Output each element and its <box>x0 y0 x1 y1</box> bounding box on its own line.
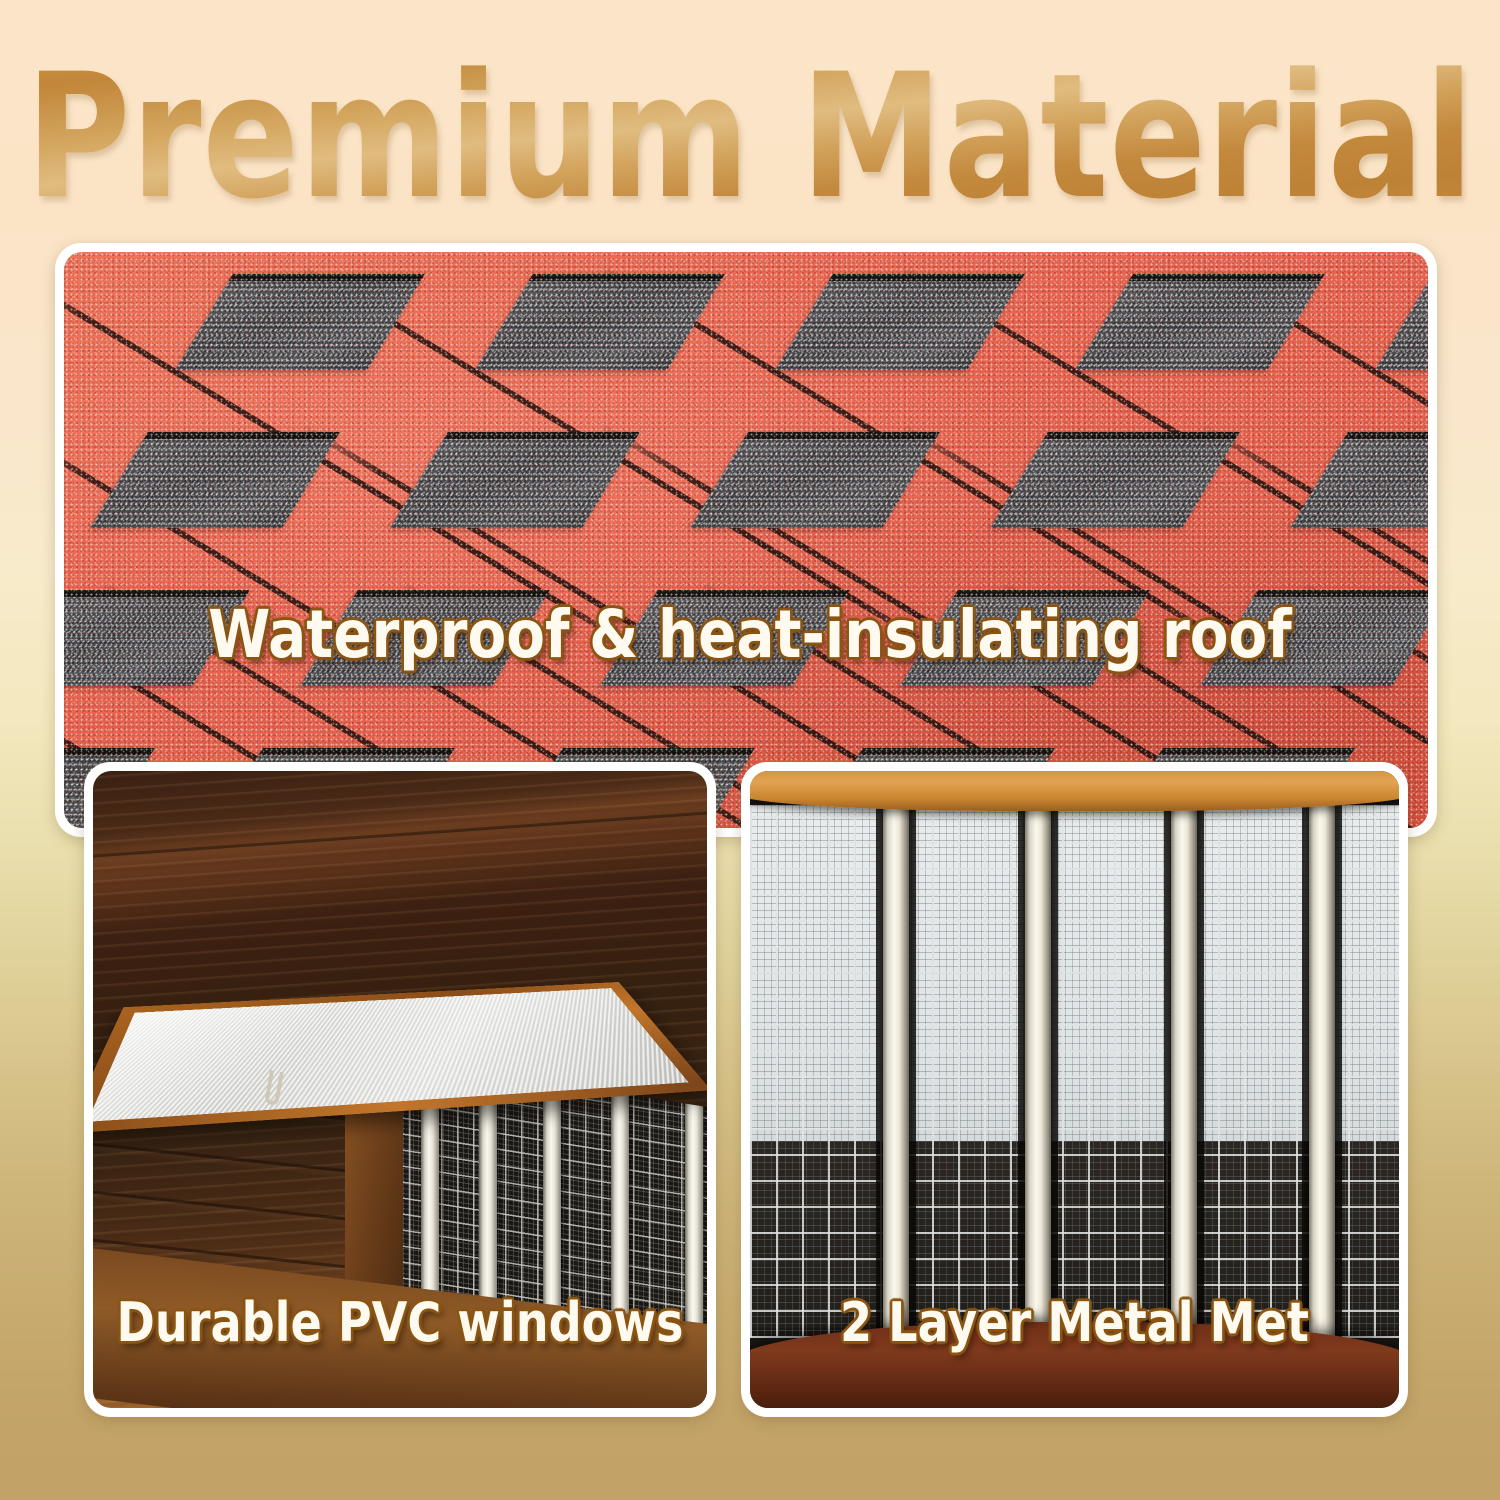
caption-pvc-window: Durable PVC windows <box>100 1291 700 1354</box>
roof-shingle-pattern <box>64 252 1428 828</box>
mesh-top-wood-rail <box>750 771 1399 811</box>
feature-panel-roof <box>55 243 1437 837</box>
caption-roof: Waterproof & heat-insulating roof <box>38 596 1463 673</box>
header-title-container: Premium Material <box>0 52 1500 222</box>
roof-photo <box>64 252 1428 828</box>
page-title: Premium Material <box>26 51 1474 223</box>
caption-metal-mesh: 2 Layer Metal Met <box>758 1291 1392 1354</box>
